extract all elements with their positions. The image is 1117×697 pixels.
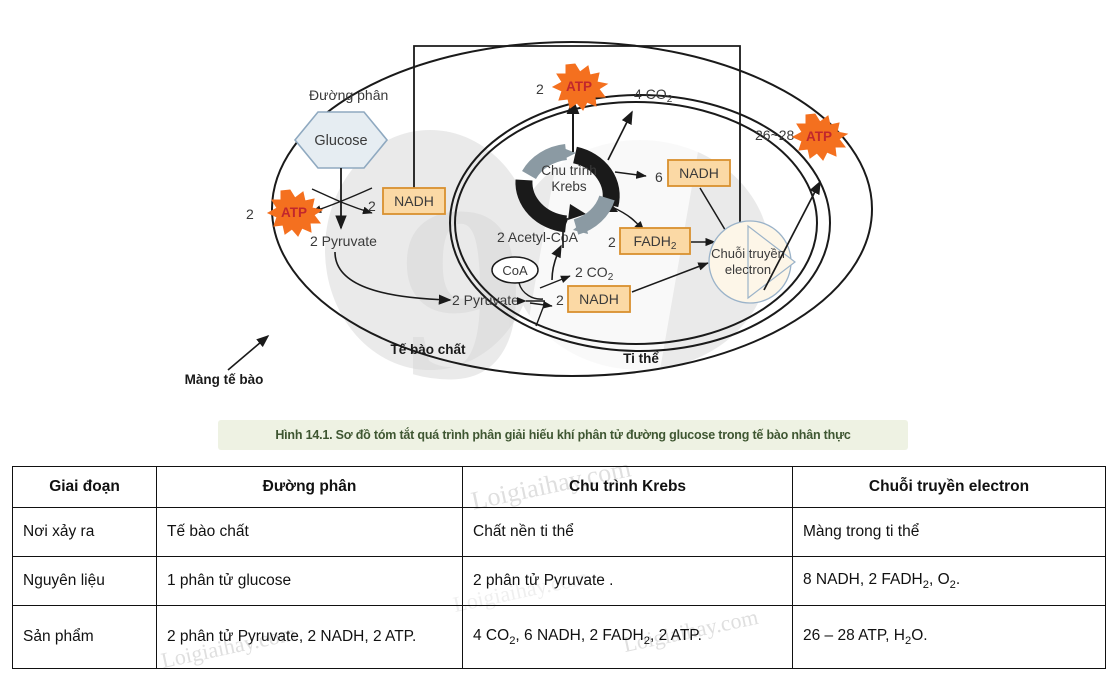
table-header-etc: Chuỗi truyền electron <box>793 467 1106 508</box>
label-nadh-krebs-count: 6 <box>655 169 663 185</box>
diagram-figure: 9 Đường phân <box>0 0 1117 410</box>
atp-burst-glycolysis: 2 ATP <box>246 190 322 236</box>
table-header-krebs: Chu trình Krebs <box>463 467 793 508</box>
label-atp-glycolysis: ATP <box>281 205 307 220</box>
atp-burst-krebs: 2 ATP <box>536 64 607 110</box>
atp-burst-etc: 26~28 ATP <box>755 114 847 160</box>
comparison-table: Giai đoạn Đường phân Chu trình Krebs Chu… <box>12 466 1106 669</box>
label-pyruvate-cytoplasm: 2 Pyruvate <box>310 233 377 249</box>
figure-caption-text: Hình 14.1. Sơ đồ tóm tắt quá trình phân … <box>275 428 850 442</box>
table-row: Nguyên liệu 1 phân tử glucose 2 phân tử … <box>13 557 1106 606</box>
table-row: Nơi xảy ra Tế bào chất Chất nền ti thể M… <box>13 508 1106 557</box>
label-nadh-krebs: NADH <box>679 165 719 181</box>
fadh2-box: 2 FADH2 <box>608 228 690 254</box>
figure-caption: Hình 14.1. Sơ đồ tóm tắt quá trình phân … <box>218 420 908 450</box>
label-co2-link-sub: 2 <box>608 272 614 283</box>
label-mitochondria: Ti thể <box>623 351 659 366</box>
label-acetyl-coa: 2 Acetyl-CoA <box>497 229 579 245</box>
row-label-location: Nơi xảy ra <box>13 508 157 557</box>
cellular-respiration-diagram: Đường phân Glucose 2 ATP 2 NADH 2 Pyruva… <box>0 0 1117 410</box>
label-atp-etc: ATP <box>806 129 832 144</box>
cell-location-krebs: Chất nền ti thể <box>463 508 793 557</box>
table-row: Sản phẩm 2 phân tử Pyruvate, 2 NADH, 2 A… <box>13 606 1106 669</box>
label-fadh2-count: 2 <box>608 234 616 250</box>
table-header-glycolysis: Đường phân <box>157 467 463 508</box>
label-atp-glycolysis-count: 2 <box>246 206 254 222</box>
comparison-table-wrapper: Giai đoạn Đường phân Chu trình Krebs Chu… <box>12 466 1105 669</box>
cell-products-glycolysis: 2 phân tử Pyruvate, 2 NADH, 2 ATP. <box>157 606 463 669</box>
cell-location-etc: Màng trong ti thể <box>793 508 1106 557</box>
label-atp-krebs-count: 2 <box>536 81 544 97</box>
label-atp-krebs: ATP <box>566 79 592 94</box>
label-cell-membrane: Màng tế bào <box>185 372 264 387</box>
cell-products-etc: 26 – 28 ATP, H2O. <box>793 606 1106 669</box>
label-glycolysis: Đường phân <box>309 87 388 103</box>
label-etc-line1: Chuỗi truyền <box>711 246 785 261</box>
label-atp-etc-count: 26~28 <box>755 127 795 143</box>
table-header-stage: Giai đoạn <box>13 467 157 508</box>
row-label-products: Sản phẩm <box>13 606 157 669</box>
cell-inputs-glycolysis: 1 phân tử glucose <box>157 557 463 606</box>
label-krebs-line1: Chu trình <box>541 163 597 178</box>
cell-location-glycolysis: Tế bào chất <box>157 508 463 557</box>
electron-transport-chain: Chuỗi truyền electron <box>709 221 795 303</box>
label-fadh2-sub: 2 <box>671 241 677 252</box>
label-nadh-link-count: 2 <box>556 292 564 308</box>
coa-oval: CoA <box>492 257 538 283</box>
row-label-inputs: Nguyên liệu <box>13 557 157 606</box>
label-pyruvate-mitochondria: 2 Pyruvate <box>452 292 519 308</box>
label-coa: CoA <box>502 263 528 278</box>
table-header-row: Giai đoạn Đường phân Chu trình Krebs Chu… <box>13 467 1106 508</box>
cell-products-krebs: 4 CO2, 6 NADH, 2 FADH2, 2 ATP. <box>463 606 793 669</box>
label-krebs-line2: Krebs <box>551 179 587 194</box>
label-etc-line2: electron <box>725 262 771 277</box>
label-co2-krebs-sub: 2 <box>667 94 673 105</box>
label-nadh-glycolysis: NADH <box>394 193 434 209</box>
label-cytoplasm: Tế bào chất <box>390 342 466 357</box>
cell-inputs-etc: 8 NADH, 2 FADH2, O2. <box>793 557 1106 606</box>
label-glucose: Glucose <box>314 133 367 149</box>
cell-inputs-krebs: 2 phân tử Pyruvate . <box>463 557 793 606</box>
label-nadh-link: NADH <box>579 291 619 307</box>
label-nadh-glycolysis-count: 2 <box>368 198 376 214</box>
